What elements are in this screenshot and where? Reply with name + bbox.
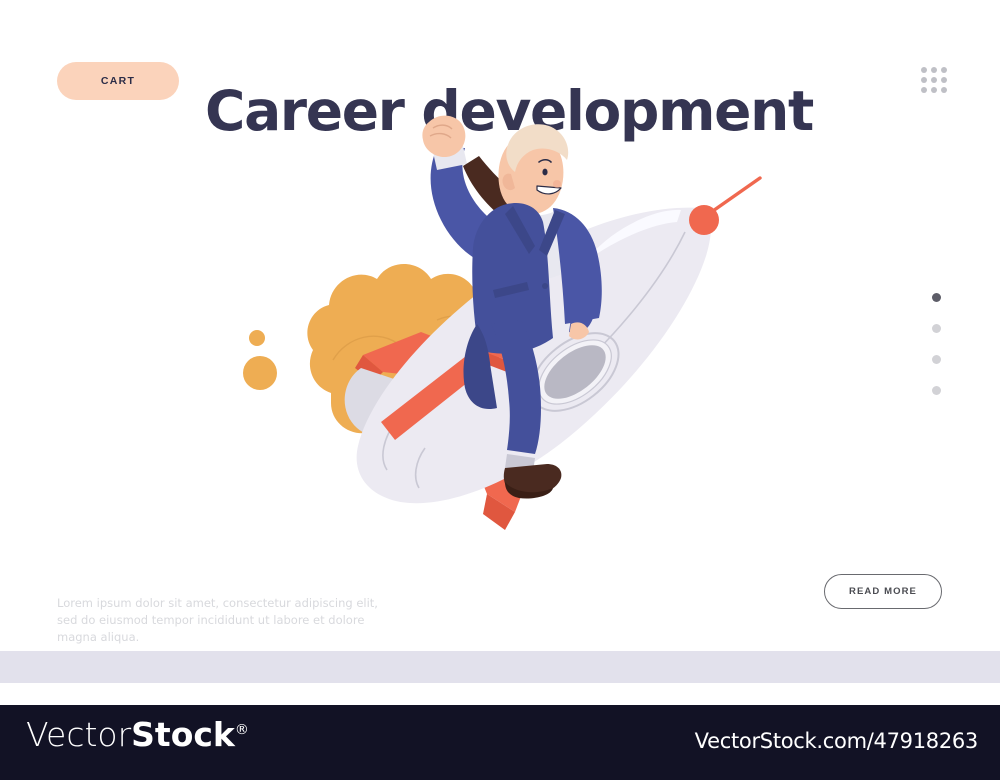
grid-dot: [921, 87, 927, 93]
rocket-antenna: [689, 178, 760, 235]
slide-indicator-dot-4[interactable]: [932, 386, 941, 395]
cart-button[interactable]: CART: [57, 62, 179, 100]
grid-dot: [921, 67, 927, 73]
registered-mark-icon: ®: [235, 722, 249, 738]
landing-page-canvas: CART Career development: [0, 0, 1000, 650]
logo-word-stock: Stock: [131, 715, 235, 754]
hero-illustration: [215, 110, 795, 540]
grid-dot: [931, 87, 937, 93]
read-more-button[interactable]: READ MORE: [824, 574, 942, 609]
vectorstock-logo: VectorStock®: [26, 718, 249, 751]
logo-word-vector: Vector: [26, 715, 131, 754]
grid-dot: [941, 67, 947, 73]
divider-band: [0, 651, 1000, 683]
slide-indicator[interactable]: [932, 293, 941, 395]
grid-dot: [931, 77, 937, 83]
watermark-url: VectorStock.com/47918263: [695, 729, 978, 753]
grid-dot: [941, 77, 947, 83]
cart-button-label: CART: [101, 75, 135, 87]
slide-indicator-dot-2[interactable]: [932, 324, 941, 333]
hero-description-text: Lorem ipsum dolor sit amet, consectetur …: [57, 595, 387, 646]
character-head: [498, 124, 568, 214]
slide-indicator-dot-3[interactable]: [932, 355, 941, 364]
grid-dot: [941, 87, 947, 93]
grid-dot: [931, 67, 937, 73]
grid-dots-icon: [921, 67, 947, 93]
slide-indicator-dot-1[interactable]: [932, 293, 941, 302]
grid-dot: [921, 77, 927, 83]
read-more-label: READ MORE: [849, 586, 917, 597]
